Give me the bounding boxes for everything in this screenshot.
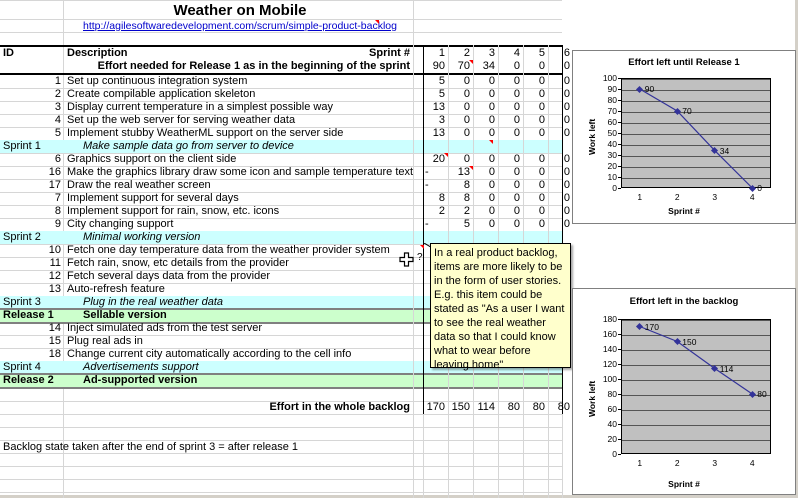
row-value: 0 [549,127,573,140]
row-value: 0 [499,218,523,231]
row-value: 0 [474,153,498,166]
row-description: Display current temperature in a simples… [65,101,413,114]
page-title: Weather on Mobile [66,2,414,19]
row-value: 3 [424,114,448,127]
row-value: 0 [474,218,498,231]
row-description: Make the graphics library draw some icon… [65,166,413,179]
row-description: Set up continuous integration system [65,75,413,88]
table-row[interactable]: 7Implement support for several days88000… [0,192,562,205]
row-value: 13 [424,127,448,140]
row-description: Create compilable application skeleton [65,88,413,101]
row-id: 15 [1,335,63,348]
table-row[interactable]: 9City changing support-50000 [0,218,562,231]
chart-point-label: 170 [645,323,659,331]
row-id: 4 [1,114,63,127]
row-value: 0 [524,75,548,88]
row-id: Release 1 [1,309,63,322]
row-value: 0 [549,205,573,218]
row-value: 13 [424,101,448,114]
column-rule [473,414,474,498]
header-sprint-2: 2 [449,47,473,60]
chart-point-label: 0 [757,184,762,192]
comment-tooltip: In a real product backlog, items are mor… [430,243,571,368]
comment-indicator-icon [420,245,424,249]
row-description: Minimal working version [65,231,413,244]
row-value: 0 [549,166,573,179]
row-id: 16 [1,166,63,179]
row-description: Draw the real weather screen [65,179,413,192]
effort-release1-value: 0 [524,60,548,73]
row-value: 0 [474,75,498,88]
row-description: Ad-supported version [65,374,413,387]
row-description: Inject simulated ads from the test serve… [65,322,413,335]
row-description: Implement stubby WeatherML support on th… [65,127,413,140]
row-value: 0 [449,88,473,101]
row-id: 18 [1,348,63,361]
row-value: 0 [449,153,473,166]
chart1-x-axis-label: Sprint # [573,206,795,216]
column-rule [423,414,424,498]
row-value: 0 [474,101,498,114]
row-id: Sprint 2 [1,231,63,244]
row-description: Plug real ads in [65,335,413,348]
row-id: 3 [1,101,63,114]
table-row[interactable]: 3Display current temperature in a simple… [0,101,562,114]
whole-backlog-value: 80 [524,401,548,414]
chart-effort-in-backlog[interactable]: Effort left in the backlog 0204060801001… [572,288,796,495]
row-value: 0 [474,205,498,218]
row-value: 0 [524,114,548,127]
row-value: 5 [449,218,473,231]
whole-backlog-value: 170 [424,401,448,414]
table-row[interactable]: Sprint 1Make sample data go from server … [0,140,562,153]
row-description: Fetch several days data from the provide… [65,270,413,283]
column-rule [423,45,424,414]
row-value: - [424,166,448,179]
effort-whole-backlog-label: Effort in the whole backlog [65,401,413,414]
row-value: 5 [424,75,448,88]
row-value: 0 [499,75,523,88]
row-description: Make sample data go from server to devic… [65,140,413,153]
row-id: 14 [1,322,63,335]
row-value: 0 [449,127,473,140]
row-id: 6 [1,153,63,166]
row-value: 0 [499,153,523,166]
row-description: Sellable version [65,309,413,322]
column-rule [562,414,563,498]
comment-indicator-icon [489,140,493,144]
column-rule [448,414,449,498]
row-value: 0 [549,101,573,114]
row-id: 1 [1,75,63,88]
header-sprint-5: 5 [524,47,548,60]
row-value: 0 [549,218,573,231]
row-value: 0 [524,192,548,205]
chart-point-label: 70 [682,107,691,115]
row-value: 0 [524,166,548,179]
row-value: 0 [524,179,548,192]
table-row[interactable]: 2Create compilable application skeleton5… [0,88,562,101]
row-value: 0 [524,127,548,140]
row-value: 8 [449,192,473,205]
effort-release1-value: 0 [549,60,573,73]
table-row[interactable]: 4Set up the web server for serving weath… [0,114,562,127]
chart1-y-axis-label: Work left [587,119,597,155]
row-value: 0 [474,88,498,101]
row-id: 8 [1,205,63,218]
comment-indicator-icon [375,20,379,24]
effort-release1-value: 70 [449,60,473,73]
row-value: 0 [499,114,523,127]
row-id: 12 [1,270,63,283]
column-rule [413,45,414,414]
row-value: 0 [549,192,573,205]
row-value: 8 [424,192,448,205]
row-value: 0 [524,88,548,101]
whole-backlog-value: 114 [474,401,498,414]
row-description: Implement support for rain, snow, etc. i… [65,205,413,218]
source-url-link[interactable]: http://agilesoftwaredevelopment.com/scru… [83,20,397,32]
row-value: 8 [449,179,473,192]
row-description: Implement support for several days [65,192,413,205]
row-value: 0 [524,205,548,218]
chart-series-line [573,51,795,256]
chart2-x-axis-label: Sprint # [573,479,795,489]
row-id: 5 [1,127,63,140]
table-row[interactable]: 6Graphics support on the client side2000… [0,153,562,166]
row-id: 17 [1,179,63,192]
row-value: 0 [499,127,523,140]
row-value: 0 [549,153,573,166]
chart-point-label: 34 [720,147,729,155]
chart-point-label: 90 [645,85,654,93]
row-value: 0 [474,192,498,205]
header-sprint-1: 1 [424,47,448,60]
row-value: 0 [499,192,523,205]
move-cursor-icon [399,252,414,267]
chart2-y-axis-label: Work left [587,381,597,417]
table-row[interactable]: Release 2Ad-supported version [0,374,562,387]
column-rule [498,414,499,498]
footnote-text: Backlog state taken after the end of spr… [1,441,401,454]
row-description: Fetch one day temperature data from the … [65,244,413,257]
row-id: 11 [1,257,63,270]
row-value: - [424,179,448,192]
column-rule [548,414,549,498]
row-id: 9 [1,218,63,231]
column-rule [413,414,414,498]
row-id: 10 [1,244,63,257]
row-id: Release 2 [1,374,63,387]
row-value: 0 [524,101,548,114]
row-description: Auto-refresh feature [65,283,413,296]
header-sprint-4: 4 [499,47,523,60]
whole-backlog-value: 80 [499,401,523,414]
row-id: Sprint 1 [1,140,63,153]
row-id: 2 [1,88,63,101]
row-value: 0 [549,114,573,127]
row-value: 0 [524,218,548,231]
source-url-row: http://agilesoftwaredevelopment.com/scru… [66,20,414,33]
row-description: Fetch rain, snow, etc details from the p… [65,257,413,270]
row-description: Set up the web server for serving weathe… [65,114,413,127]
header-sprint-6: 6 [549,47,573,60]
row-id: 7 [1,192,63,205]
row-description: Graphics support on the client side [65,153,413,166]
header-sprint-hash: Sprint # [65,47,413,60]
row-value: 0 [474,114,498,127]
row-value: 0 [499,179,523,192]
row-value: 0 [499,166,523,179]
row-value: 0 [449,114,473,127]
row-description: Change current city automatically accord… [65,348,413,361]
row-value: 0 [474,166,498,179]
row-value: 0 [549,75,573,88]
table-row[interactable]: 1Set up continuous integration system500… [0,75,562,88]
footnote-row: Backlog state taken after the end of spr… [0,441,562,454]
row-value: 2 [449,205,473,218]
row-value: 0 [499,205,523,218]
effort-release1-label: Effort needed for Release 1 as in the be… [65,60,413,73]
row-value: 0 [449,101,473,114]
chart-effort-until-release1[interactable]: Effort left until Release 1 010203040506… [572,50,796,224]
whole-backlog-value: 80 [549,401,573,414]
spreadsheet-canvas: Weather on Mobile http://agilesoftwarede… [0,0,798,498]
row-value: 5 [424,88,448,101]
chart-point-label: 114 [720,365,734,373]
row-value: 0 [499,88,523,101]
chart-point-label: 80 [757,390,766,398]
row-value: - [424,218,448,231]
row-id: 13 [1,283,63,296]
row-value: 2 [424,205,448,218]
row-value: 0 [549,88,573,101]
row-value: 0 [524,153,548,166]
whole-backlog-value: 150 [449,401,473,414]
table-row[interactable]: 8Implement support for rain, snow, etc. … [0,205,562,218]
row-value: 0 [499,101,523,114]
header-id: ID [1,47,63,60]
effort-release1-value: 0 [499,60,523,73]
row-value: 0 [474,179,498,192]
release-rule [0,387,562,389]
header-sprint-3: 3 [474,47,498,60]
table-row[interactable]: 17Draw the real weather screen-80000 [0,179,562,192]
table-row[interactable]: 5Implement stubby WeatherML support on t… [0,127,562,140]
row-value: 0 [474,127,498,140]
release-rule [0,373,562,375]
effort-release1-value: 34 [474,60,498,73]
comment-marker[interactable]: ? [417,252,423,263]
table-row[interactable]: 16Make the graphics library draw some ic… [0,166,562,179]
chart-point-label: 150 [682,338,696,346]
row-value: 0 [449,75,473,88]
row-description: City changing support [65,218,413,231]
effort-release1-value: 90 [424,60,448,73]
row-value: 0 [549,179,573,192]
column-rule [523,414,524,498]
